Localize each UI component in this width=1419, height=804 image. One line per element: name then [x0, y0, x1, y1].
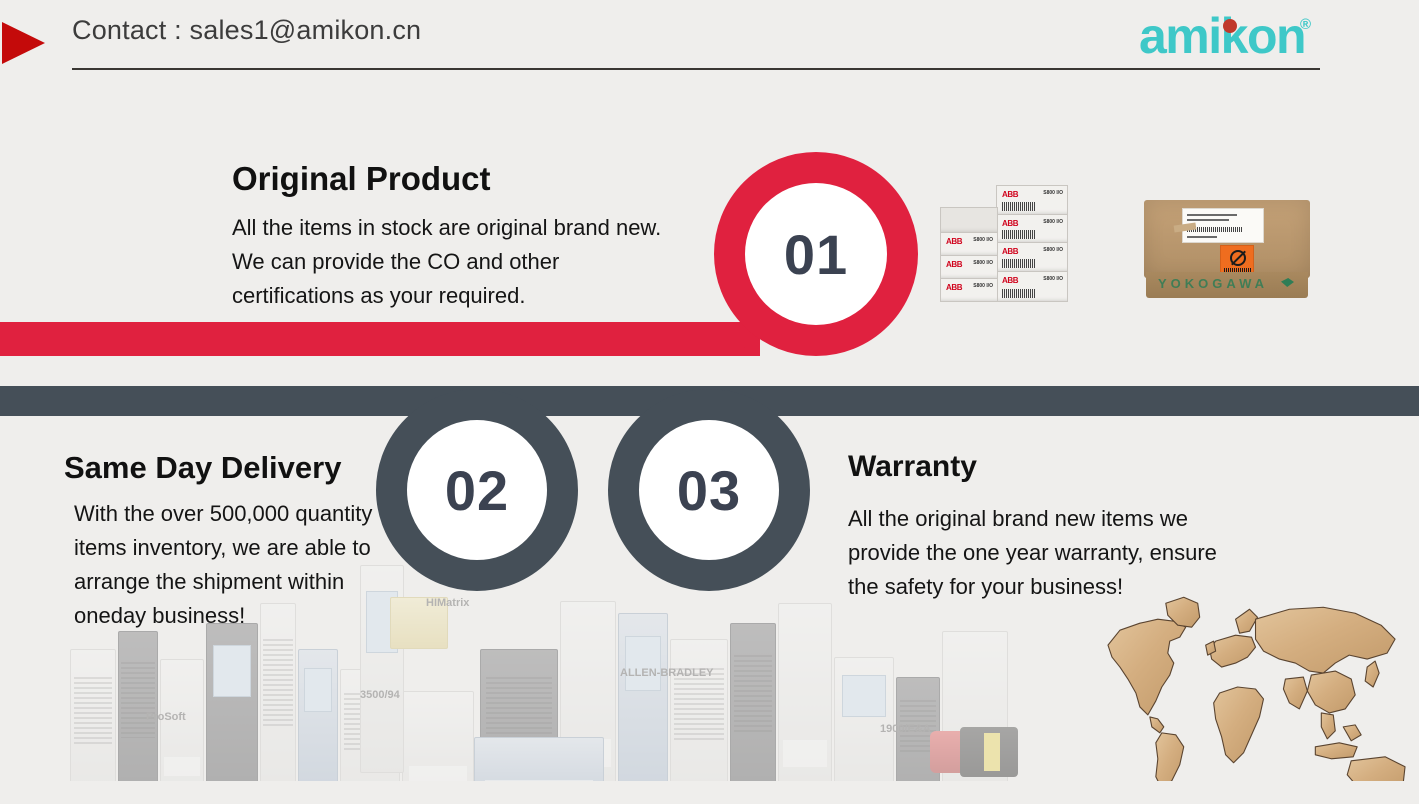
abb-model-label: S800 I/O [1043, 190, 1063, 196]
collage-device [618, 613, 668, 799]
step-badge-01: 01 [714, 152, 918, 356]
abb-box-stack-photo: ABB S800 I/O ABB S800 I/O ABB S800 I/O A… [940, 185, 1070, 310]
industrial-equipment-collage: 3500/94 HIMatrix ProSoft ALLEN-BRADLEY 1… [60, 565, 1060, 799]
logo-red-dot-icon [1223, 19, 1237, 33]
abb-brand-label: ABB [1002, 219, 1018, 228]
step-badge-03: 03 [608, 389, 810, 591]
barcode-icon [1002, 289, 1036, 298]
step-number-03: 03 [677, 458, 741, 523]
collage-device [70, 649, 116, 799]
abb-brand-label: ABB [1002, 190, 1018, 199]
abb-brand-label: ABB [946, 260, 962, 269]
carton-top-face [1144, 200, 1310, 278]
abb-model-label: S800 I/O [1043, 276, 1063, 282]
collage-caption: 3500/94 [360, 689, 400, 701]
abb-box: ABB S800 I/O [940, 255, 998, 279]
header-divider [72, 68, 1320, 70]
section-02-title: Same Day Delivery [64, 450, 341, 486]
abb-brand-label: ABB [946, 283, 962, 292]
collage-caption: HIMatrix [426, 597, 469, 609]
abb-model-label: S800 I/O [1043, 219, 1063, 225]
section-03-title: Warranty [848, 450, 977, 484]
bottom-strip [0, 781, 1419, 799]
abb-model-label: S800 I/O [973, 283, 993, 289]
barcode-icon [1002, 202, 1036, 211]
collage-device [260, 603, 296, 799]
abb-model-label: S800 I/O [973, 237, 993, 243]
abb-brand-label: ABB [1002, 276, 1018, 285]
abb-model-label: S800 I/O [973, 260, 993, 266]
amikon-logo: amikon ® [1139, 8, 1319, 66]
abb-brand-label: ABB [1002, 247, 1018, 256]
abb-brand-label: ABB [946, 237, 962, 246]
contact-label: Contact : sales1@amikon.cn [72, 15, 421, 46]
step-number-02: 02 [445, 458, 509, 523]
section-01-title: Original Product [232, 160, 491, 198]
collage-device [160, 659, 204, 799]
abb-box: ABB S800 I/O [996, 242, 1068, 272]
step-number-01: 01 [784, 222, 848, 287]
collage-device [670, 639, 728, 799]
collage-caption: ALLEN-BRADLEY [620, 667, 714, 679]
abb-box: ABB S800 I/O [996, 271, 1068, 302]
wooden-world-map-image [1100, 575, 1419, 799]
page-header: Contact : sales1@amikon.cn amikon ® [0, 0, 1419, 88]
abb-box: ABB S800 I/O [940, 232, 998, 256]
abb-model-label: S800 I/O [1043, 247, 1063, 253]
collage-caption: ProSoft [146, 711, 186, 723]
step-badge-02: 02 [376, 389, 578, 591]
yokogawa-brand-label: YOKOGAWA [1158, 276, 1268, 291]
collage-device [730, 623, 776, 799]
collage-device [206, 623, 258, 799]
abb-box: ABB S800 I/O [996, 185, 1068, 215]
servo-motor-photo [930, 727, 1050, 779]
abb-box [940, 207, 998, 233]
barcode-icon [1002, 230, 1036, 239]
logo-wordmark: amikon [1139, 8, 1305, 64]
collage-device [778, 603, 832, 799]
collage-device [298, 649, 338, 799]
abb-box: ABB S800 I/O [940, 278, 998, 302]
section-01-body: All the items in stock are original bran… [232, 211, 662, 313]
red-accent-band [0, 322, 760, 356]
step-badge-01-fill: 01 [745, 183, 887, 325]
yokogawa-carton-photo: YOKOGAWA [1144, 200, 1310, 300]
logo-registered-mark: ® [1300, 16, 1311, 33]
banner-canvas: Contact : sales1@amikon.cn amikon ® Orig… [0, 0, 1419, 799]
collage-caption: 1900/E&A [880, 723, 931, 735]
play-triangle-icon [2, 22, 45, 64]
barcode-icon [1002, 259, 1036, 268]
abb-box: ABB S800 I/O [996, 214, 1068, 243]
